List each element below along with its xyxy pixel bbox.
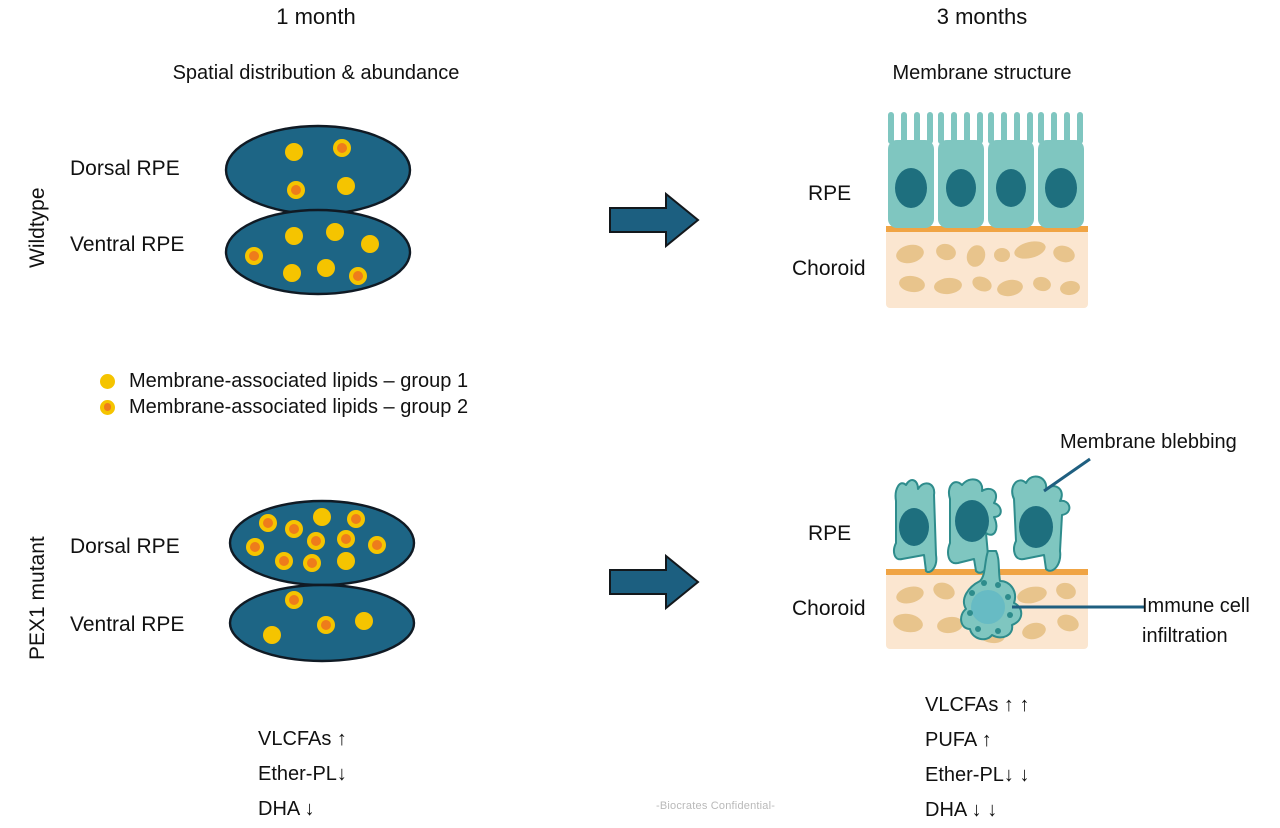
lipid-dot-group1 <box>283 264 301 282</box>
lipid-group1-swatch-icon <box>100 374 115 389</box>
lipid-dot-group1 <box>285 143 303 161</box>
lipid-dot-group2-core <box>337 143 347 153</box>
confidential-watermark: -Biocrates Confidential- <box>656 800 775 812</box>
arrow-wildtype-progression <box>608 190 700 250</box>
wt-dorsal-rpe-label: Dorsal RPE <box>70 156 180 182</box>
row-label-pex1-mutant: PEX1 mutant <box>26 536 50 660</box>
immune-cell-nucleus <box>971 590 1005 624</box>
callout-membrane-blebbing: Membrane blebbing <box>1060 430 1237 454</box>
legend-label-group1: Membrane-associated lipids – group 1 <box>129 370 468 393</box>
lipid-dot-group1 <box>361 235 379 253</box>
wt-choroid-layer <box>886 230 1088 308</box>
callout-immune-cell-line2: infiltration <box>1142 624 1228 648</box>
wt-rpe-nuclei <box>895 168 1077 208</box>
column-subtitle-1month: Spatial distribution & abundance <box>166 62 466 85</box>
mut-choroid-label: Choroid <box>792 596 866 622</box>
wt-ventral-rpe-label: Ventral RPE <box>70 232 184 258</box>
lipid-change-item: DHA ↓ <box>258 792 347 827</box>
column-title-3months: 3 months <box>882 4 1082 30</box>
wt-rpe-cell-layer <box>888 112 1084 228</box>
lipid-dot-group1 <box>337 177 355 195</box>
wildtype-membrane-structure <box>884 108 1090 313</box>
lipid-changes-3months: VLCFAs ↑ ↑ PUFA ↑ Ether-PL↓ ↓ DHA ↓ ↓ <box>925 688 1029 828</box>
wildtype-rpe-ellipses <box>218 118 418 298</box>
mut-ventral-rpe-label: Ventral RPE <box>70 612 184 638</box>
lipid-dot-group2-core <box>291 185 301 195</box>
immune-cell-leader-line <box>1010 600 1146 614</box>
callout-immune-cell-line1: Immune cell <box>1142 594 1250 618</box>
column-subtitle-3months: Membrane structure <box>882 62 1082 85</box>
wt-dorsal-ellipse <box>226 126 410 214</box>
lipid-dot-group1 <box>317 259 335 277</box>
legend: Membrane-associated lipids – group 1 Mem… <box>100 368 468 420</box>
mut-rpe-label: RPE <box>808 521 851 547</box>
legend-item-group1: Membrane-associated lipids – group 1 <box>100 368 468 394</box>
arrow-mutant-progression <box>608 552 700 612</box>
figure-canvas: 1 month Spatial distribution & abundance… <box>0 0 1280 823</box>
column-title-1month: 1 month <box>216 4 416 30</box>
lipid-dot-group1 <box>285 227 303 245</box>
pex1-mutant-rpe-ellipses <box>222 495 422 665</box>
membrane-blebbing-leader-line <box>1040 455 1100 495</box>
lipid-changes-1month: VLCFAs ↑ Ether-PL↓ DHA ↓ <box>258 722 347 827</box>
legend-label-group2: Membrane-associated lipids – group 2 <box>129 396 468 419</box>
lipid-dot-group2-core <box>249 251 259 261</box>
lipid-change-item: Ether-PL↓ <box>258 757 347 792</box>
lipid-dot-group1 <box>326 223 344 241</box>
lipid-group2-swatch-icon <box>100 400 115 415</box>
lipid-change-item: PUFA ↑ <box>925 723 1029 758</box>
wt-rpe-label: RPE <box>808 181 851 207</box>
row-label-wildtype: Wildtype <box>26 187 50 268</box>
lipid-change-item: Ether-PL↓ ↓ <box>925 758 1029 793</box>
lipid-change-item: VLCFAs ↑ <box>258 722 347 757</box>
lipid-change-item: VLCFAs ↑ ↑ <box>925 688 1029 723</box>
legend-item-group2: Membrane-associated lipids – group 2 <box>100 394 468 420</box>
lipid-dot-group2-core <box>353 271 363 281</box>
mut-dorsal-rpe-label: Dorsal RPE <box>70 534 180 560</box>
wt-choroid-label: Choroid <box>792 256 866 282</box>
